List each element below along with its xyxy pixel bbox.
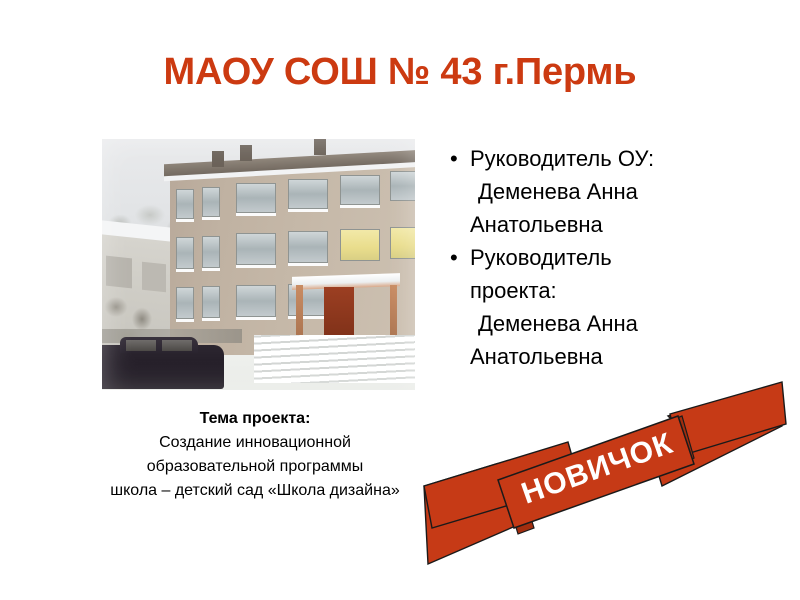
- photo-window: [236, 233, 276, 265]
- bullet-dot-icon: •: [450, 241, 458, 274]
- photo-window: [202, 187, 220, 217]
- photo-window-sill: [176, 269, 194, 272]
- novice-ribbon-banner: НОВИЧОК: [418, 368, 788, 573]
- list-item: • Руководитель: [444, 241, 784, 274]
- project-caption: Тема проекта: Создание инновационной обр…: [55, 407, 455, 503]
- photo-window-sill: [288, 316, 328, 319]
- slide-canvas: МАОУ СОШ № 43 г.Пермь: [0, 0, 800, 600]
- photo-chimney: [314, 139, 326, 155]
- info-bullet-list: • Руководитель ОУ: Деменева Анна Анатоль…: [444, 142, 784, 373]
- caption-title: Тема проекта:: [55, 407, 455, 431]
- photo-window-lit: [340, 229, 380, 261]
- bullet-label-line: проекта:: [444, 274, 784, 307]
- photo-window-sill: [202, 217, 220, 220]
- photo-window: [176, 237, 194, 269]
- photo-window-sill: [202, 318, 220, 321]
- photo-window: [202, 286, 220, 318]
- photo-window-sill: [288, 209, 328, 212]
- photo-entrance-steps: [254, 335, 415, 383]
- photo-window-sill: [236, 213, 276, 216]
- photo-window: [288, 231, 328, 263]
- bullet-label: Руководитель ОУ:: [470, 146, 654, 171]
- photo-window-sill: [202, 268, 220, 271]
- photo-side-window: [142, 262, 166, 293]
- photo-window-sill: [236, 317, 276, 320]
- photo-window-sill: [236, 265, 276, 268]
- ribbon-svg: НОВИЧОК: [418, 368, 788, 573]
- photo-window: [288, 179, 328, 209]
- photo-window-sill: [288, 263, 328, 266]
- photo-window: [236, 183, 276, 213]
- photo-car-window: [162, 340, 192, 351]
- photo-window: [390, 171, 415, 201]
- photo-side-window: [106, 256, 132, 289]
- photo-window-sill: [176, 319, 194, 322]
- photo-window-lit: [390, 227, 415, 259]
- photo-window: [202, 236, 220, 268]
- bullet-value-line: Анатольевна: [444, 208, 784, 241]
- bullet-dot-icon: •: [450, 142, 458, 175]
- photo-window: [176, 189, 194, 219]
- caption-line: Создание инновационной: [55, 431, 455, 455]
- page-title: МАОУ СОШ № 43 г.Пермь: [60, 50, 740, 94]
- photo-window: [176, 287, 194, 319]
- photo-window-sill: [340, 205, 380, 208]
- photo-chimney: [240, 145, 252, 161]
- list-item: • Руководитель ОУ:: [444, 142, 784, 175]
- photo-window-sill: [176, 219, 194, 222]
- bullet-value-line: Деменева Анна: [444, 307, 784, 340]
- photo-chimney: [212, 151, 224, 167]
- bullet-label: Руководитель: [470, 245, 612, 270]
- photo-window: [340, 175, 380, 205]
- caption-line: школа – детский сад «Школа дизайна»: [55, 479, 455, 503]
- bullet-value-line: Деменева Анна: [444, 175, 784, 208]
- school-building-photo: [102, 139, 415, 390]
- caption-line: образовательной программы: [55, 455, 455, 479]
- photo-car-window: [126, 340, 156, 351]
- photo-canvas: [102, 139, 415, 390]
- photo-window: [236, 285, 276, 317]
